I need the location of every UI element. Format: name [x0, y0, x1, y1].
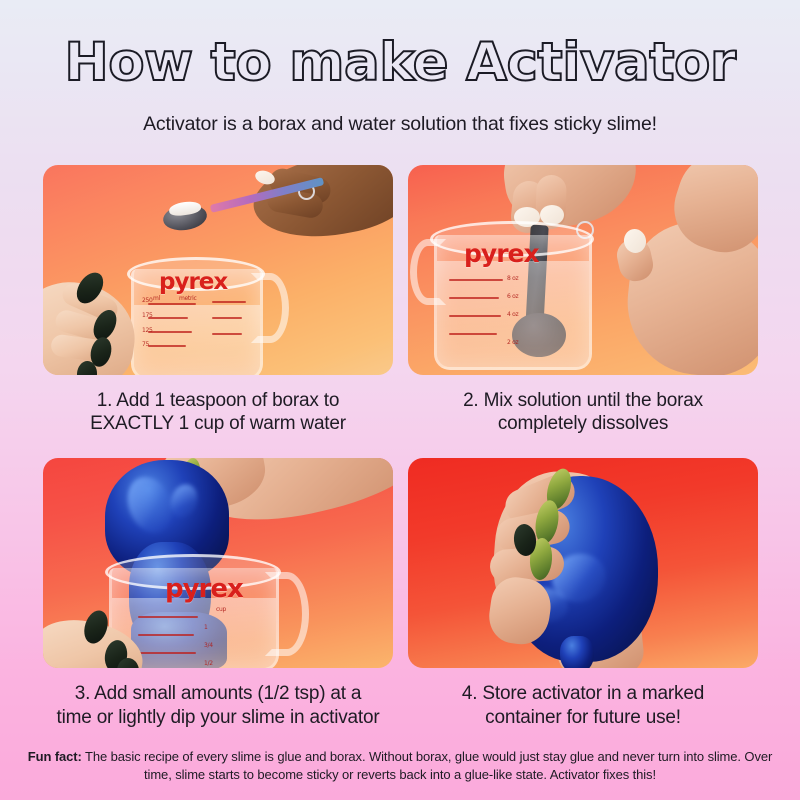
step-3-photo: cup 1 3/4 1/2 pyrex	[43, 458, 393, 668]
measure-label: 6 oz	[507, 293, 518, 300]
step-1-caption: 1. Add 1 teaspoon of borax to EXACTLY 1 …	[43, 389, 393, 435]
steps-row-2: cup 1 3/4 1/2 pyrex 3. Add small amounts…	[43, 458, 758, 728]
measure-tick	[449, 315, 501, 317]
step-4-photo	[408, 458, 758, 668]
measure-tick	[212, 317, 242, 319]
fun-fact-label: Fun fact:	[28, 749, 82, 764]
step-2-caption: 2. Mix solution until the borax complete…	[408, 389, 758, 435]
steps-row-1: 250 175 125 75 pyrex ml metric	[43, 165, 758, 435]
measure-label: 1	[204, 624, 208, 631]
pyrex-brand-logo: pyrex	[165, 574, 243, 604]
fun-fact-footer: Fun fact: The basic recipe of every slim…	[20, 748, 780, 784]
measure-tick	[449, 297, 499, 299]
step-4-caption: 4. Store activator in a marked container…	[408, 682, 758, 728]
measure-label: 3/4	[204, 642, 213, 649]
measure-tick	[148, 303, 196, 305]
measure-label: 175	[142, 312, 153, 319]
measure-tick	[212, 333, 242, 335]
step-3-caption: 3. Add small amounts (1/2 tsp) at a time…	[43, 682, 393, 728]
measure-label: 75	[142, 341, 149, 348]
step-1: 250 175 125 75 pyrex ml metric	[43, 165, 393, 435]
caption-line-2: EXACTLY 1 cup of warm water	[43, 412, 393, 435]
measure-label: 1/2	[204, 660, 213, 667]
measure-tick	[449, 333, 497, 335]
cup-handle	[251, 273, 289, 343]
caption-line-1: 2. Mix solution until the borax	[463, 390, 703, 411]
step-3: cup 1 3/4 1/2 pyrex 3. Add small amounts…	[43, 458, 393, 728]
pyrex-brand-logo: pyrex	[159, 269, 227, 295]
step-4: 4. Store activator in a marked container…	[408, 458, 758, 728]
measure-tick	[148, 317, 188, 319]
cup-handle	[265, 572, 309, 656]
caption-line-2: time or lightly dip your slime in activa…	[43, 706, 393, 729]
caption-line-1: 4. Store activator in a marked	[462, 683, 704, 704]
measure-unit-label: metric	[179, 295, 197, 302]
measure-tick	[212, 301, 246, 303]
measure-label: 2 oz	[507, 339, 518, 346]
measure-tick	[148, 331, 192, 333]
measure-tick	[148, 345, 186, 347]
blue-slime-drip	[560, 636, 594, 668]
measure-unit-label: ml	[153, 295, 160, 302]
caption-line-1: 1. Add 1 teaspoon of borax to	[97, 390, 339, 411]
step-1-photo: 250 175 125 75 pyrex ml metric	[43, 165, 393, 375]
measure-tick	[449, 279, 503, 281]
measure-label: 4 oz	[507, 311, 518, 318]
steps-grid: 250 175 125 75 pyrex ml metric	[43, 165, 758, 729]
fun-fact-text: The basic recipe of every slime is glue …	[82, 749, 772, 782]
infographic-page: How to make Activator Activator is a bor…	[0, 0, 800, 800]
measure-label: 250	[142, 297, 153, 304]
caption-line-2: container for future use!	[408, 706, 758, 729]
caption-line-2: completely dissolves	[408, 412, 758, 435]
caption-line-1: 3. Add small amounts (1/2 tsp) at a	[75, 683, 362, 704]
page-title: How to make Activator	[0, 34, 800, 91]
measure-label: 125	[142, 327, 153, 334]
step-2: 8 oz 6 oz 4 oz 2 oz pyrex 2. Mix solutio…	[408, 165, 758, 435]
measure-label: cup	[216, 606, 226, 613]
measure-label: 8 oz	[507, 275, 518, 282]
pyrex-brand-logo: pyrex	[464, 239, 539, 268]
page-subtitle: Activator is a borax and water solution …	[0, 113, 800, 136]
cup-handle	[410, 239, 446, 305]
step-2-photo: 8 oz 6 oz 4 oz 2 oz pyrex	[408, 165, 758, 375]
